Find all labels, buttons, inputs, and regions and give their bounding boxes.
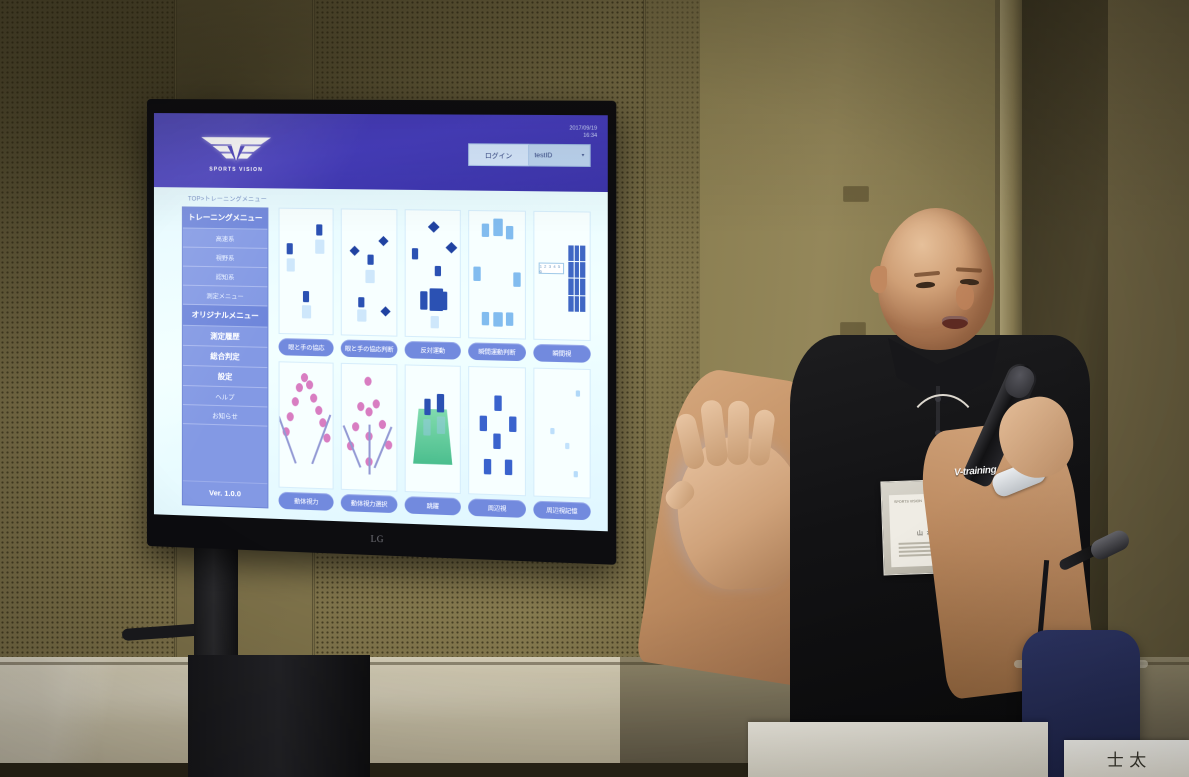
presentation-photo: SPORTS VISION 2017/09/19 16:34 ログイン test…	[0, 0, 1189, 777]
speaker: SPORTS VISION 山 本 V-training	[620, 180, 1090, 777]
nose	[956, 284, 974, 310]
thumb-eye-hand-judgement[interactable]	[341, 208, 397, 336]
thumb-dynamic-visual-acuity-select[interactable]	[341, 363, 397, 492]
user-select-value: testID	[534, 152, 552, 159]
thumb-reaction-movement[interactable]	[404, 209, 461, 338]
clock-time: 16:34	[569, 132, 597, 139]
tile-row-2: 動体視力 動体視力選択 跳躍 周辺視 周辺視記憶	[279, 361, 591, 520]
sidebar-item-speed[interactable]: 高速系	[183, 229, 268, 249]
tile-label-dynamic-visual-acuity-select[interactable]: 動体視力選択	[341, 494, 397, 513]
nameplate: 士 太	[1064, 740, 1189, 777]
tile-label-eye-hand-judgement[interactable]: 眼と手の協応判断	[341, 339, 397, 358]
lg-monitor: SPORTS VISION 2017/09/19 16:34 ログイン test…	[147, 99, 616, 565]
tile-row-1-thumbs: 1 2 3 4 5 6	[279, 208, 591, 341]
app-logo: SPORTS VISION	[190, 127, 283, 178]
lg-logo: LG	[371, 534, 384, 545]
tile-label-dynamic-visual-acuity[interactable]: 動体視力	[279, 492, 334, 511]
tv-stand-base	[188, 655, 370, 777]
thumb-peripheral-vision-memory[interactable]	[533, 368, 591, 499]
monitor-screen: SPORTS VISION 2017/09/19 16:34 ログイン test…	[154, 113, 608, 531]
head	[878, 208, 994, 350]
sports-vision-app: SPORTS VISION 2017/09/19 16:34 ログイン test…	[154, 113, 608, 531]
badge-org: SPORTS VISION	[894, 499, 922, 504]
sidebar-item-vision-field[interactable]: 視野系	[183, 248, 268, 269]
ear	[870, 266, 887, 293]
doorway-outer	[1108, 0, 1189, 700]
thumb-jump[interactable]	[404, 364, 461, 494]
login-button[interactable]: ログイン	[468, 143, 529, 166]
app-body: TOP>トレーニングメニュー トレーニングメニュー 高速系 視野系 認知系 測定…	[154, 187, 608, 531]
thumb-instant-motion-judgement[interactable]	[468, 210, 525, 340]
sidebar-item-measure-menu[interactable]: 測定メニュー	[183, 286, 268, 307]
tile-row-1: 1 2 3 4 5 6 眼と手の協応 眼と手の協応判断	[279, 208, 591, 363]
sidebar: トレーニングメニュー 高速系 視野系 認知系 測定メニュー オリジナルメニュー …	[182, 206, 269, 508]
mouth	[942, 316, 968, 329]
tile-label-peripheral-vision[interactable]: 周辺視	[468, 498, 525, 518]
app-header: SPORTS VISION 2017/09/19 16:34 ログイン test…	[154, 113, 608, 192]
sidebar-item-measure-history[interactable]: 測定履歴	[183, 326, 268, 348]
tile-label-instant-vision[interactable]: 瞬間視	[533, 344, 591, 363]
tile-label-peripheral-vision-memory[interactable]: 周辺視記憶	[533, 501, 591, 521]
sidebar-item-news[interactable]: お知らせ	[183, 405, 268, 427]
app-version: Ver. 1.0.0	[183, 481, 268, 507]
clock-date: 2017/09/19	[569, 125, 597, 132]
tile-label-jump[interactable]: 跳躍	[404, 496, 461, 515]
sidebar-item-help[interactable]: ヘルプ	[183, 386, 268, 407]
table	[748, 722, 1048, 777]
sidebar-item-cognition[interactable]: 認知系	[183, 267, 268, 288]
header-actions: ログイン testID ▾	[468, 143, 591, 167]
tile-label-reaction-movement[interactable]: 反対運動	[404, 341, 461, 360]
chevron-down-icon: ▾	[582, 152, 585, 158]
sidebar-item-overall-rating[interactable]: 総合判定	[183, 346, 268, 368]
app-logo-text: SPORTS VISION	[209, 167, 263, 174]
thumb-eye-hand-coordination[interactable]	[279, 208, 334, 336]
tile-label-eye-hand-coordination[interactable]: 眼と手の協応	[279, 338, 334, 357]
thumb-peripheral-vision[interactable]	[468, 366, 525, 496]
app-clock: 2017/09/19 16:34	[569, 125, 597, 139]
sidebar-spacer	[183, 424, 268, 484]
sidebar-item-original-menu[interactable]: オリジナルメニュー	[183, 305, 268, 328]
thumb-dynamic-visual-acuity[interactable]	[279, 361, 334, 489]
sidebar-item-training-menu[interactable]: トレーニングメニュー	[183, 207, 268, 229]
content-row: トレーニングメニュー 高速系 視野系 認知系 測定メニュー オリジナルメニュー …	[154, 206, 608, 531]
wing-v-icon	[199, 132, 274, 166]
thumb-instant-vision[interactable]: 1 2 3 4 5 6	[533, 211, 591, 341]
tile-grid: 1 2 3 4 5 6 眼と手の協応 眼と手の協応判断	[279, 208, 591, 521]
tile-label-instant-motion-judgement[interactable]: 瞬間運動判断	[468, 342, 525, 361]
raised-hand	[674, 434, 806, 592]
sidebar-item-settings[interactable]: 設定	[183, 366, 268, 388]
user-select-dropdown[interactable]: testID ▾	[529, 144, 591, 167]
tile-row-1-labels: 眼と手の協応 眼と手の協応判断 反対運動 瞬間運動判断 瞬間視	[279, 338, 591, 363]
tile-row-2-thumbs	[279, 361, 591, 498]
